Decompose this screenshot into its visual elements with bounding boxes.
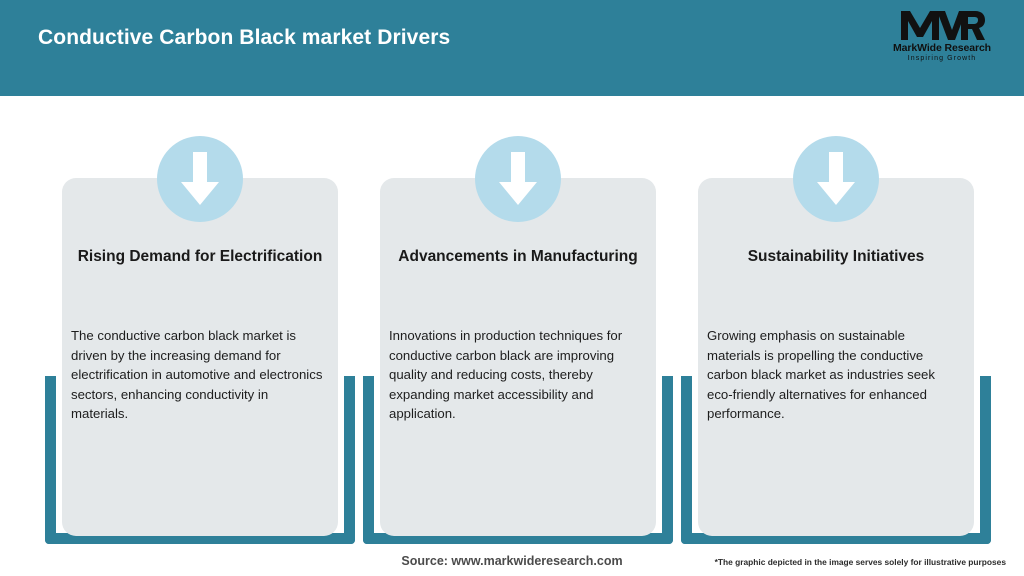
driver-card: Rising Demand for Electrification The co…	[45, 96, 355, 546]
driver-card: Advancements in Manufacturing Innovation…	[363, 96, 673, 546]
card-body-text: Growing emphasis on sustainable material…	[707, 326, 959, 424]
card-heading: Rising Demand for Electrification	[73, 244, 327, 269]
card-heading: Sustainability Initiatives	[709, 244, 963, 269]
logo-tagline: Inspiring Growth	[884, 54, 1000, 63]
driver-card: Sustainability Initiatives Growing empha…	[681, 96, 991, 546]
card-heading: Advancements in Manufacturing	[391, 244, 645, 269]
drivers-card-area: Rising Demand for Electrification The co…	[0, 96, 1024, 576]
page-title: Conductive Carbon Black market Drivers	[38, 26, 450, 50]
down-arrow-icon	[793, 136, 879, 222]
card-body-text: The conductive carbon black market is dr…	[71, 326, 323, 424]
down-arrow-icon	[475, 136, 561, 222]
disclaimer-label: *The graphic depicted in the image serve…	[715, 557, 1006, 567]
down-arrow-icon	[157, 136, 243, 222]
logo-company-name: MarkWide Research	[884, 43, 1000, 54]
brand-logo: MarkWide Research Inspiring Growth	[884, 8, 1000, 70]
mwr-monogram-icon	[899, 8, 985, 42]
card-body-text: Innovations in production techniques for…	[389, 326, 641, 424]
